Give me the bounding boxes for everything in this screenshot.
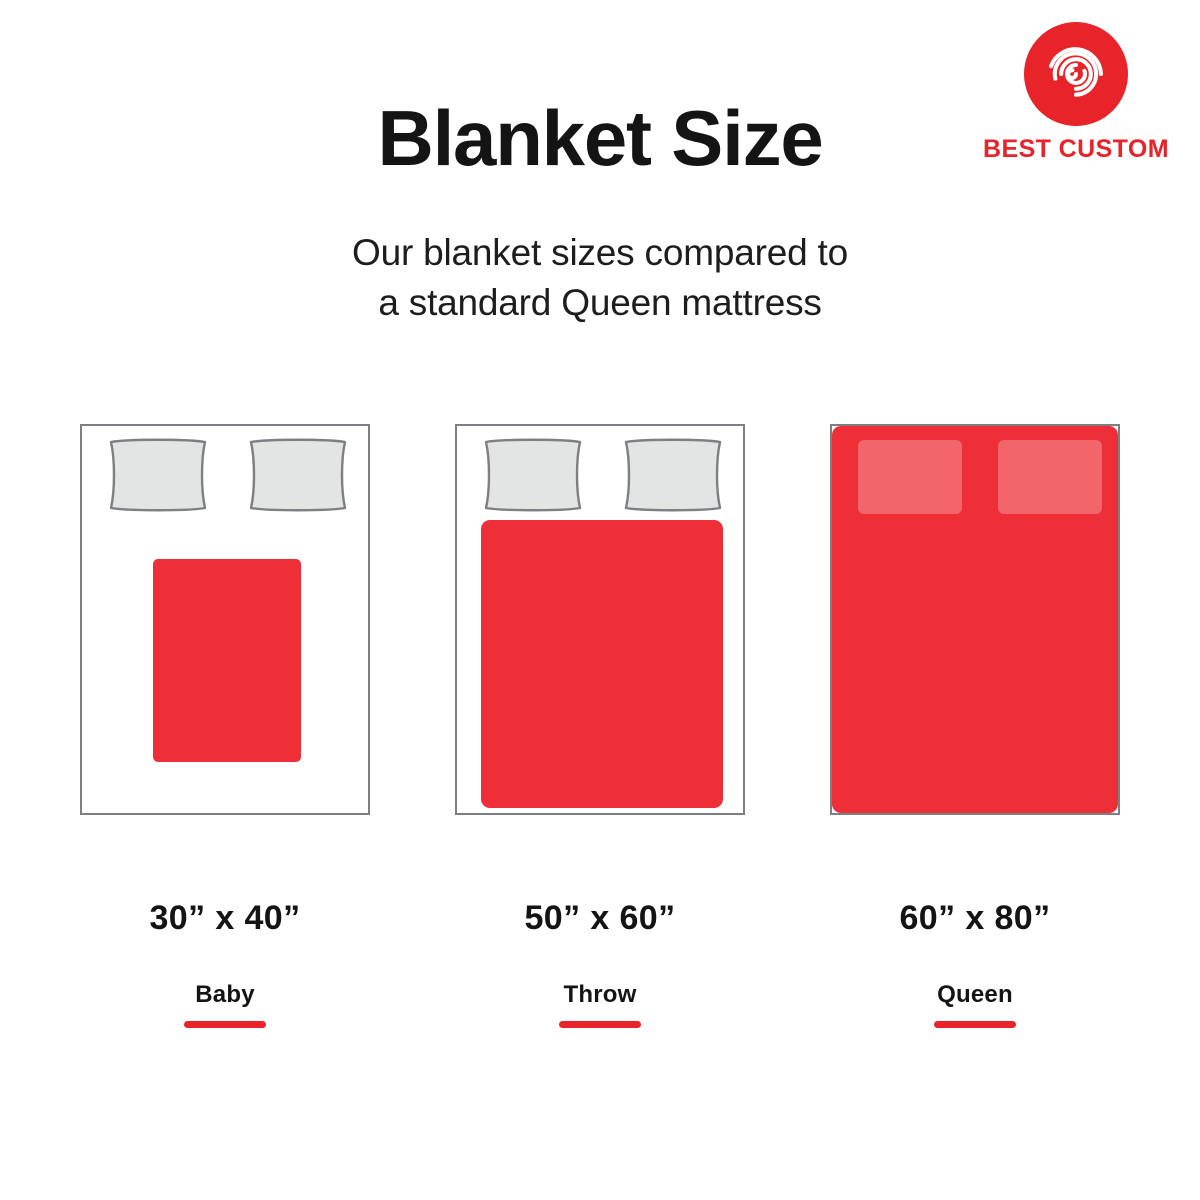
caption-baby: 30” x 40” Baby <box>80 900 370 1028</box>
page-title: Blanket Size <box>0 98 1200 180</box>
caption-size-name: Queen <box>830 982 1120 1008</box>
bed-diagram-queen <box>830 424 1120 815</box>
pillow-icon <box>246 438 350 512</box>
pillow-icon <box>106 438 210 512</box>
caption-size-name: Baby <box>80 982 370 1008</box>
bed-comparison-row <box>0 424 1200 824</box>
caption-size-name: Throw <box>455 982 745 1008</box>
blanket-shape-baby <box>153 559 301 762</box>
caption-dimensions: 60” x 80” <box>830 900 1120 937</box>
pillow-under-blanket-icon <box>998 440 1102 514</box>
page-subtitle: Our blanket sizes compared to a standard… <box>0 228 1200 328</box>
caption-underline-rule <box>934 1021 1016 1028</box>
caption-queen: 60” x 80” Queen <box>830 900 1120 1028</box>
caption-underline-rule <box>184 1021 266 1028</box>
blanket-shape-throw <box>481 520 723 808</box>
bed-diagram-baby <box>80 424 370 815</box>
caption-row: 30” x 40” Baby 50” x 60” Throw 60” x 80”… <box>0 900 1200 1050</box>
page-subtitle-line-1: Our blanket sizes compared to <box>0 228 1200 278</box>
page-subtitle-line-2: a standard Queen mattress <box>0 278 1200 328</box>
caption-dimensions: 30” x 40” <box>80 900 370 937</box>
caption-throw: 50” x 60” Throw <box>455 900 745 1028</box>
bed-diagram-throw <box>455 424 745 815</box>
blanket-shape-queen <box>832 426 1118 813</box>
caption-underline-rule <box>559 1021 641 1028</box>
pillow-under-blanket-icon <box>858 440 962 514</box>
pillow-icon <box>621 438 725 512</box>
caption-dimensions: 50” x 60” <box>455 900 745 937</box>
pillow-icon <box>481 438 585 512</box>
